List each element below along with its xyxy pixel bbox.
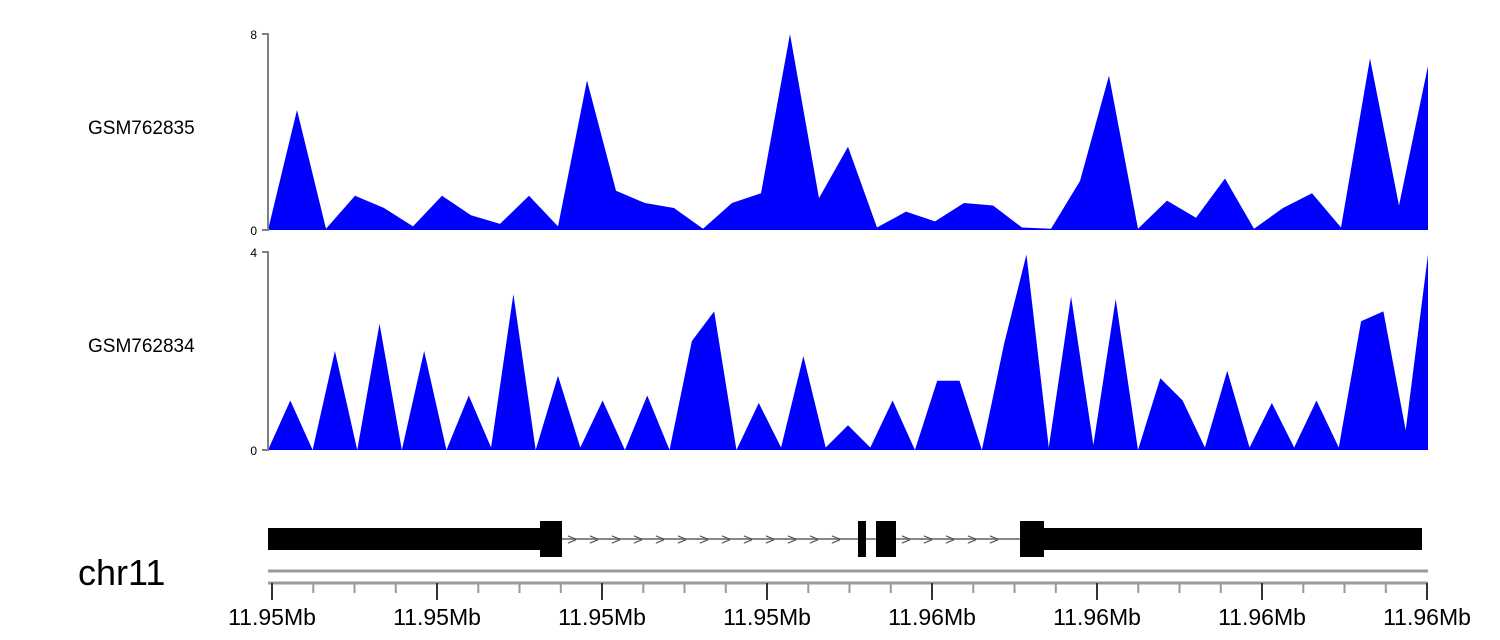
strand-arrow-icon: >	[923, 530, 933, 549]
ruler-tick-labels: 11.95Mb11.95Mb11.95Mb11.95Mb11.96Mb11.96…	[228, 604, 1471, 630]
ruler-tick-label: 11.96Mb	[888, 604, 976, 630]
strand-arrow-icon: >	[655, 530, 665, 549]
y-axis-bracket	[262, 252, 268, 450]
gene-exon-block[interactable]	[1020, 521, 1044, 557]
y-axis-min-label-track-1: 0	[250, 444, 257, 458]
y-axis-gsm762834: 4 0	[250, 246, 268, 458]
strand-arrow-icon: >	[677, 530, 687, 549]
strand-arrow-icon: >	[765, 530, 775, 549]
coverage-area-gsm762834	[268, 254, 1428, 450]
coverage-track-gsm762834	[268, 254, 1428, 450]
ruler-tick-label: 11.95Mb	[393, 604, 481, 630]
y-axis-min-label-track-0: 0	[250, 224, 257, 238]
gene-exon-block[interactable]	[1044, 528, 1422, 550]
strand-arrow-icon: >	[633, 530, 643, 549]
gene-exon-block[interactable]	[540, 521, 562, 557]
ruler-tick-label: 11.95Mb	[723, 604, 811, 630]
y-axis-gsm762835: 8 0	[250, 28, 268, 238]
ruler-tick-label: 11.96Mb	[1053, 604, 1141, 630]
y-axis-max-label-track-1: 4	[250, 246, 257, 260]
strand-arrow-icon: >	[699, 530, 709, 549]
strand-arrow-icon: >	[945, 530, 955, 549]
strand-arrow-icon: >	[901, 530, 911, 549]
strand-arrow-icon: >	[809, 530, 819, 549]
gene-model-track[interactable]: >>>>>>>>>>>>>>>>>>	[268, 521, 1422, 557]
strand-arrow-icon: >	[567, 530, 577, 549]
strand-arrow-icon: >	[589, 530, 599, 549]
strand-arrow-icon: >	[967, 530, 977, 549]
strand-arrow-icon: >	[831, 530, 841, 549]
ruler-tick-label: 11.96Mb	[1218, 604, 1306, 630]
ruler-tick-label: 11.96Mb	[1383, 604, 1471, 630]
coordinate-ruler[interactable]	[268, 571, 1428, 583]
strand-arrow-icon: >	[989, 530, 999, 549]
strand-arrow-icon: >	[611, 530, 621, 549]
strand-arrow-icon: >	[787, 530, 797, 549]
gene-exon-block[interactable]	[268, 528, 540, 550]
gene-exon-block[interactable]	[876, 521, 896, 557]
ruler-tick-label: 11.95Mb	[558, 604, 646, 630]
y-axis-max-label-track-0: 8	[250, 28, 257, 42]
y-axis-bracket	[262, 34, 268, 230]
coverage-track-gsm762835	[268, 34, 1428, 230]
strand-arrow-icon: >	[743, 530, 753, 549]
genome-browser-view: GSM762835 GSM762834 chr11 8 0 4 0 >>>>>>…	[0, 0, 1500, 640]
browser-canvas: 8 0 4 0 >>>>>>>>>>>>>>>>>> 11.95Mb11.95M…	[0, 0, 1500, 640]
ruler-tick-marks	[272, 583, 1427, 600]
strand-arrow-icon: >	[721, 530, 731, 549]
ruler-tick-label: 11.95Mb	[228, 604, 316, 630]
gene-exon-block[interactable]	[858, 521, 866, 557]
coverage-area-gsm762835	[268, 34, 1428, 230]
